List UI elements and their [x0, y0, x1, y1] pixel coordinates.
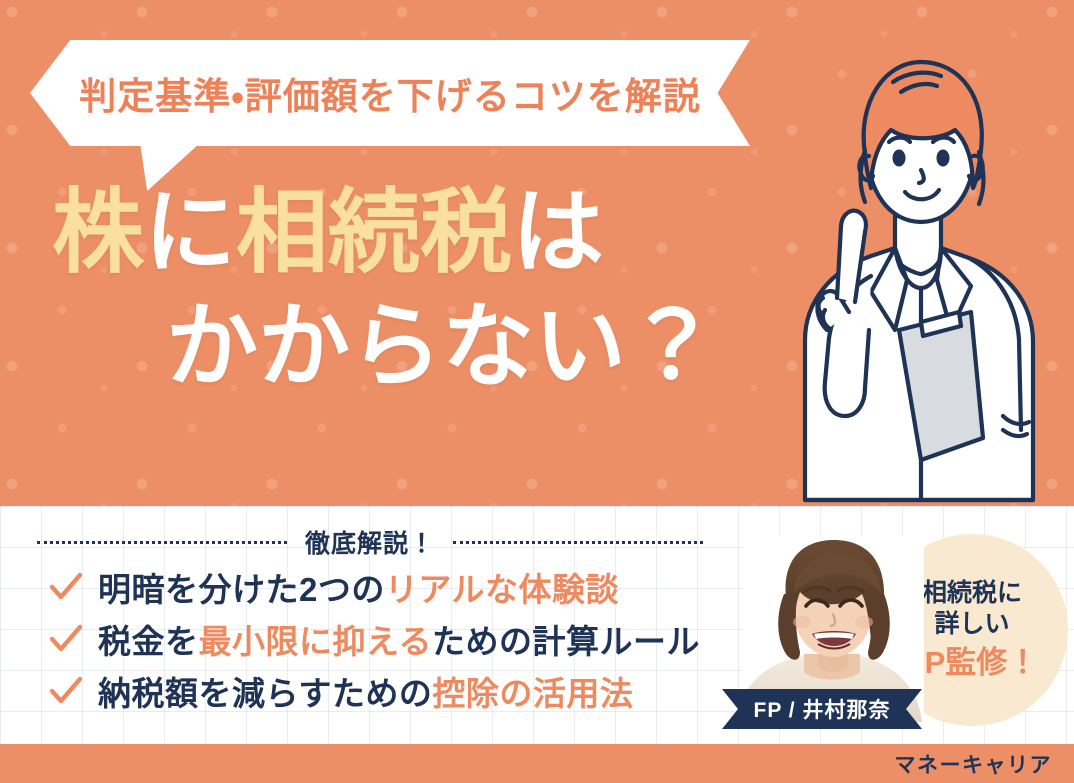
bullet-list: 明暗を分けた2つのリアルな体験談 税金を最小限に抑えるための計算ルール 納税額を… — [48, 562, 748, 718]
kicker-row: 徹底解説！ — [0, 526, 740, 558]
kicker-label: 徹底解説！ — [305, 524, 435, 560]
check-icon — [48, 621, 84, 657]
fp-name-label: FP / 井村那奈 — [754, 694, 891, 724]
list-item-label: 納税額を減らすための控除の活用法 — [98, 667, 633, 715]
fp-name-ribbon: FP / 井村那奈 — [722, 689, 922, 729]
title-line-2: かからない？ — [52, 300, 812, 396]
footer-bar: マネーキャリア — [0, 744, 1074, 783]
badge-line-3: FP監修！ — [906, 644, 1039, 681]
page-title: 株に相続税は かからない？ — [52, 186, 812, 395]
pointing-woman-in-white-coat-icon — [745, 30, 1074, 506]
hero-section: 判定基準・評価額を下げるコツを解説 株に相続税は かからない？ — [0, 0, 1074, 506]
title-word-souzokuzei: 相続税 — [236, 182, 512, 284]
badge-line-1: 相続税に — [922, 579, 1022, 609]
check-icon — [48, 673, 84, 709]
dotted-line-right — [453, 541, 703, 544]
title-particle-wa: は — [512, 182, 604, 284]
bullet-1-orange: リアルな体験談 — [385, 571, 619, 608]
bullet-2-navy2: ための計算ルール — [432, 623, 700, 660]
bullet-3-navy1: 納税額を減らすための — [98, 675, 432, 712]
badge-line-2: 詳しい — [934, 610, 1009, 640]
speech-bubble-text: 判定基準・評価額を下げるコツを解説 — [30, 40, 750, 146]
list-item: 納税額を減らすための控除の活用法 — [48, 666, 748, 716]
list-item: 税金を最小限に抑えるための計算ルール — [48, 614, 748, 664]
bullet-2-navy1: 税金を — [98, 623, 199, 660]
bullet-1-navy1: 明暗を分けた2つの — [98, 571, 385, 608]
speech-bubble: 判定基準・評価額を下げるコツを解説 — [30, 40, 750, 172]
check-icon — [48, 569, 84, 605]
brand-logo: マネーキャリア — [895, 744, 1053, 783]
title-word-kabu: 株 — [52, 182, 144, 284]
list-item: 明暗を分けた2つのリアルな体験談 — [48, 562, 748, 612]
list-item-label: 税金を最小限に抑えるための計算ルール — [98, 615, 700, 663]
title-particle-ni: に — [144, 182, 236, 284]
title-line-1: 株に相続税は — [52, 186, 812, 282]
bullet-3-orange: 控除の活用法 — [432, 675, 633, 712]
banner-root: 判定基準・評価額を下げるコツを解説 株に相続税は かからない？ — [0, 0, 1074, 783]
dotted-line-left — [37, 541, 287, 544]
list-item-label: 明暗を分けた2つのリアルな体験談 — [98, 563, 619, 611]
bullet-2-orange: 最小限に抑える — [199, 623, 433, 660]
